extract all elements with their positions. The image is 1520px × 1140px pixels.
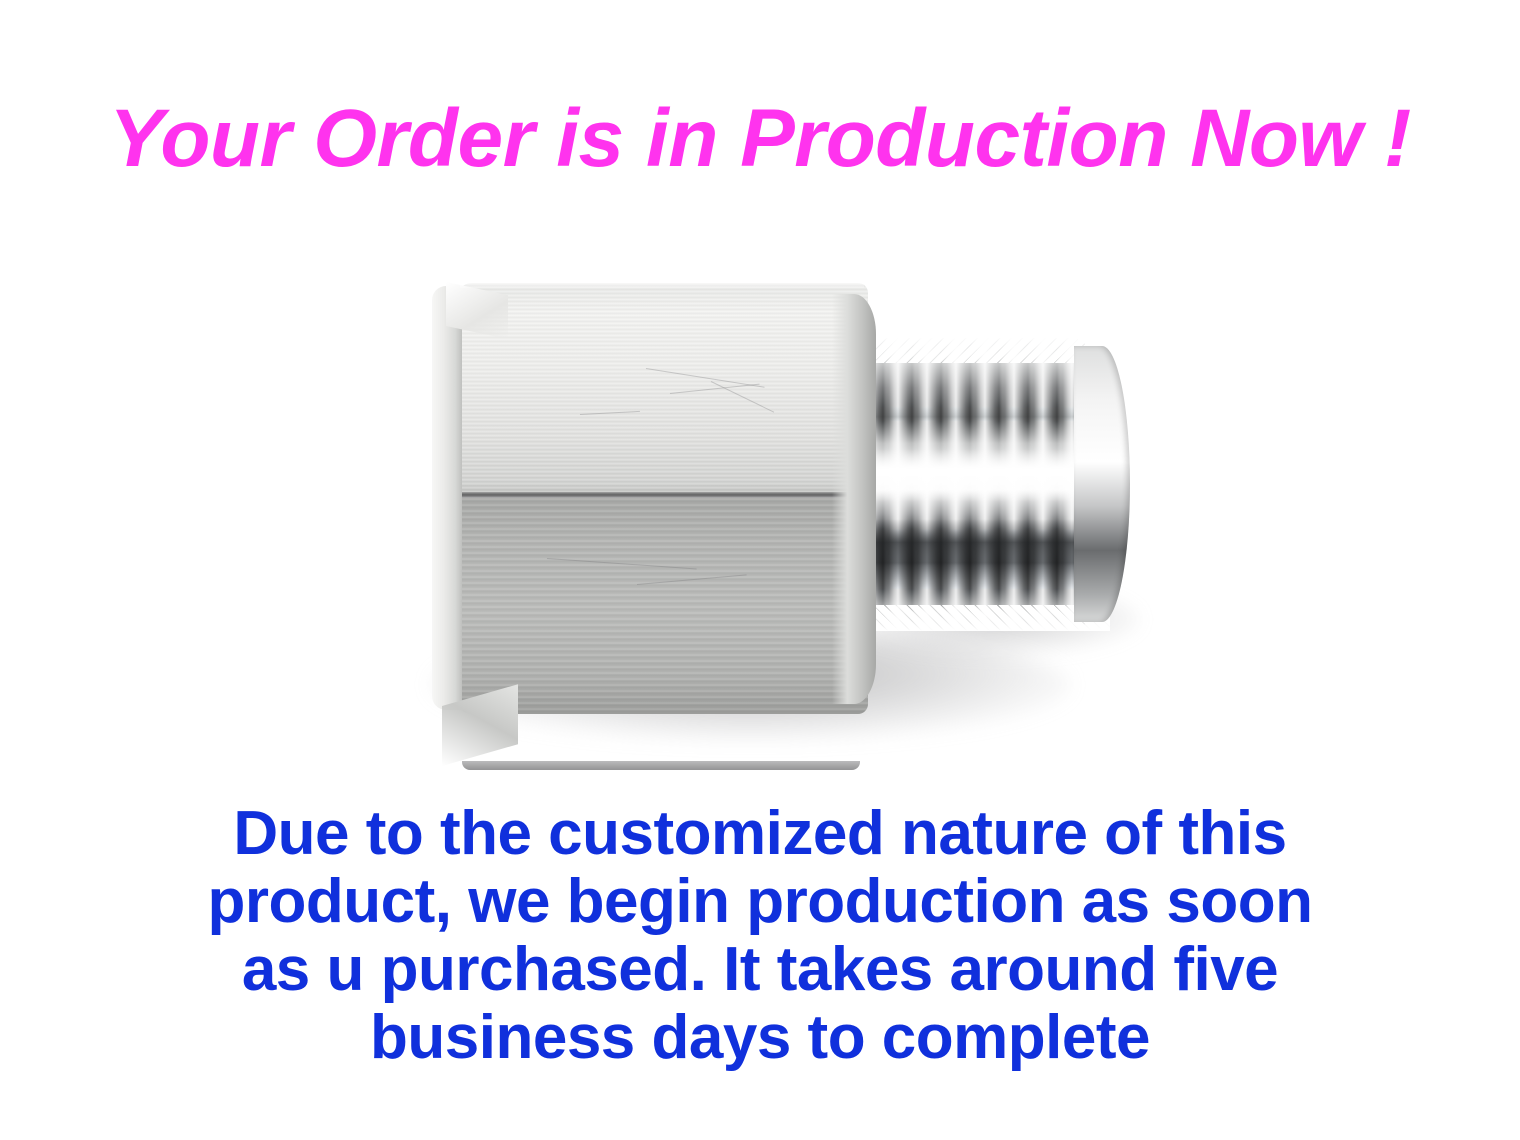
hex-left-chamfer [432,286,462,710]
hex-right-shoulder [832,294,876,704]
hex-bottom-edge [462,761,860,770]
threaded-nipple [860,338,1130,630]
hex-face-upper [456,283,868,495]
promo-banner: Your Order is in Production Now ! [0,0,1520,1140]
hex-top-highlight [460,278,864,288]
hex-body [432,278,872,768]
product-photo [380,230,1180,790]
production-notice: Due to the customized nature of this pro… [0,800,1520,1072]
page-title: Your Order is in Production Now ! [0,96,1520,182]
notice-line: as u purchased. It takes around five [0,936,1520,1004]
hex-face-lower [456,498,868,714]
machining-striations-lower [456,498,868,714]
notice-line: business days to complete [0,1004,1520,1072]
machining-striations-upper [456,283,868,495]
thread-end-cap [1074,346,1130,622]
notice-line: product, we begin production as soon [0,868,1520,936]
notice-line: Due to the customized nature of this [0,800,1520,868]
